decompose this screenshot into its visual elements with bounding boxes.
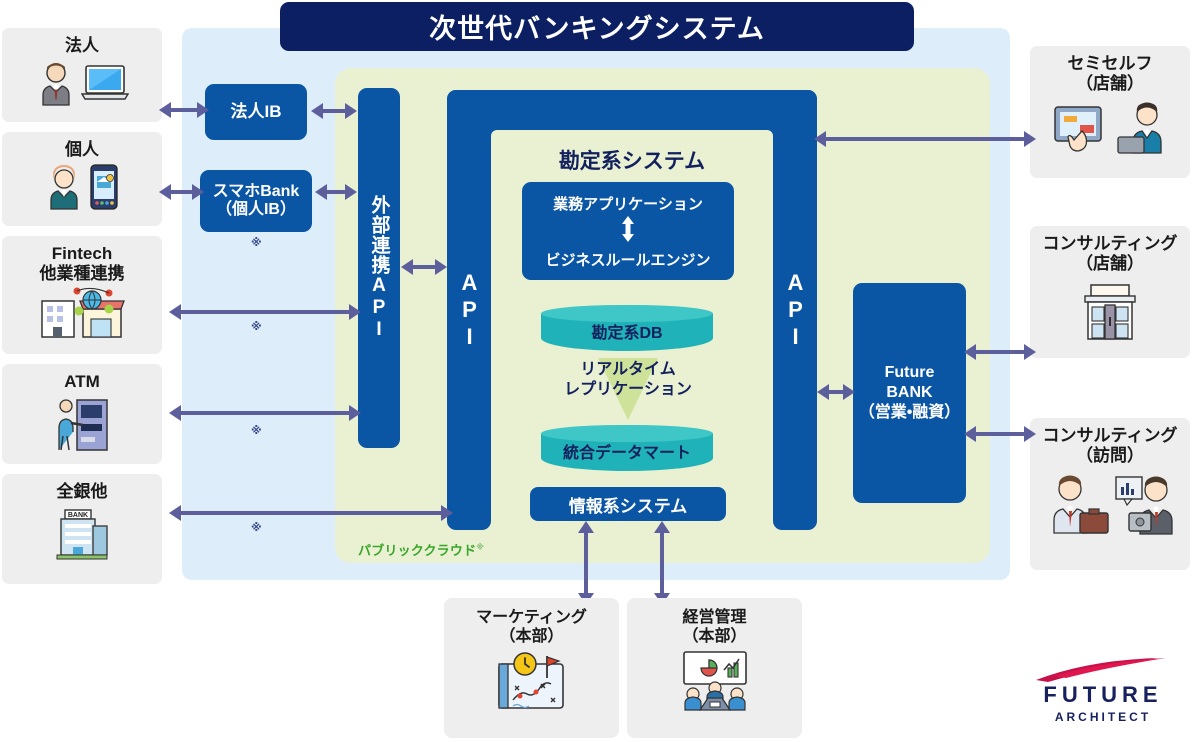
app-rule-link-arrow-icon: [620, 216, 636, 247]
actor-label: 法人: [65, 36, 99, 56]
arrow-future-bank-to-consulting-store: [975, 350, 1025, 354]
api-right-label: API: [782, 270, 808, 351]
core-db-label: 勘定系DB: [541, 319, 713, 343]
core-database-cylinder[interactable]: 勘定系DB: [541, 305, 713, 355]
left-actor-individual[interactable]: 個人: [2, 132, 162, 226]
diagram-canvas: パブリッククラウド※ 次世代バンキングシステム 法人 個人 Fintech 他業…: [0, 0, 1200, 742]
management-meeting-icon: [676, 650, 754, 717]
channel-box-smartphone-bank[interactable]: スマホBank （個人IB）: [200, 170, 312, 232]
left-actor-corporate[interactable]: 法人: [2, 28, 162, 122]
business-rule-engine-label: ビジネスルールエンジン: [545, 249, 710, 270]
consultants-icon: [1044, 473, 1177, 535]
public-cloud-label: パブリッククラウド※: [358, 540, 484, 559]
right-actor-consulting-store[interactable]: コンサルティング （店舗）: [1030, 226, 1190, 358]
right-actor-consulting-visit[interactable]: コンサルティング （訪問）: [1030, 418, 1190, 570]
business-application-label: 業務アプリケーション: [553, 193, 703, 214]
arrow-atm-to-external-api: [180, 411, 350, 415]
arrow-future-bank-to-consulting-visit: [975, 432, 1025, 436]
asterisk-marker: ※: [251, 320, 262, 333]
network-buildings-icon: [39, 287, 125, 339]
actor-label: 全銀他: [57, 482, 108, 502]
arrow-external-api-to-api: [412, 265, 436, 269]
arrow-info-to-management: [660, 532, 664, 594]
actor-label: ATM: [64, 372, 100, 392]
left-actor-atm[interactable]: ATM: [2, 364, 162, 464]
api-column-left[interactable]: API: [447, 90, 491, 530]
core-system-title: 勘定系システム: [500, 145, 764, 175]
api-left-label: API: [456, 270, 482, 351]
api-column-right[interactable]: API: [773, 90, 817, 530]
information-system-box[interactable]: 情報系システム: [530, 487, 726, 521]
actor-label: セミセルフ （店舗）: [1068, 54, 1153, 93]
business-application-box[interactable]: 業務アプリケーション ビジネスルールエンジン: [522, 182, 734, 280]
external-api-label: 外部連携API: [366, 195, 393, 341]
logo-primary-text: FUTURE: [1043, 682, 1162, 708]
actor-label: コンサルティング （訪問）: [1043, 426, 1178, 465]
page-title: 次世代バンキングシステム: [280, 2, 914, 51]
arrow-corporate-to-ib: [170, 108, 198, 112]
data-mart-label: 統合データマート: [541, 439, 713, 463]
logo-swoosh-icon: [1028, 656, 1178, 682]
actor-label: Fintech 他業種連携: [40, 244, 125, 283]
arrow-zengin-to-api: [180, 511, 442, 515]
svg-text:BANK: BANK: [68, 512, 88, 519]
atm-icon: [52, 396, 112, 452]
dept-management[interactable]: 経営管理 （本部）: [627, 598, 802, 738]
channel-box-corporate-ib[interactable]: 法人IB: [205, 84, 307, 140]
asterisk-marker: ※: [251, 236, 262, 249]
right-actor-semiself[interactable]: セミセルフ （店舗）: [1030, 46, 1190, 178]
dept-label: 経営管理 （本部）: [682, 608, 746, 646]
actor-label: コンサルティング （店舗）: [1043, 234, 1178, 273]
arrow-info-to-marketing: [584, 532, 588, 594]
tablet-staff-icon: [1052, 101, 1169, 155]
asterisk-marker: ※: [251, 424, 262, 437]
arrow-fintech-to-external-api: [180, 310, 350, 314]
arrow-smartphone-to-external-api: [326, 190, 346, 194]
bank-building-icon: BANK: [53, 506, 111, 560]
actor-label: 個人: [65, 140, 99, 160]
future-architect-logo: FUTURE ARCHITECT: [1018, 646, 1188, 734]
external-integration-api-column[interactable]: 外部連携API: [358, 88, 400, 448]
asterisk-marker: ※: [251, 521, 262, 534]
arrow-individual-to-smartphone: [170, 190, 193, 194]
storefront-icon: [1079, 283, 1141, 341]
person-smartphone-icon: [45, 164, 120, 210]
data-mart-cylinder[interactable]: 統合データマート: [541, 425, 713, 475]
marketing-map-icon: [493, 650, 571, 717]
left-actor-zengin[interactable]: 全銀他 BANK: [2, 474, 162, 584]
arrow-api-to-future-bank: [828, 390, 844, 394]
arrow-api-to-semiself: [825, 137, 1025, 141]
dept-label: マーケティング （本部）: [476, 608, 587, 646]
dept-marketing[interactable]: マーケティング （本部）: [444, 598, 619, 738]
future-bank-box[interactable]: Future BANK （営業•融資）: [853, 283, 966, 503]
businessman-laptop-icon: [36, 60, 129, 106]
left-actor-fintech[interactable]: Fintech 他業種連携: [2, 236, 162, 354]
replication-label: リアルタイム レプリケーション: [528, 360, 728, 400]
arrow-ib-to-external-api: [322, 109, 346, 113]
logo-secondary-text: ARCHITECT: [1055, 710, 1151, 724]
